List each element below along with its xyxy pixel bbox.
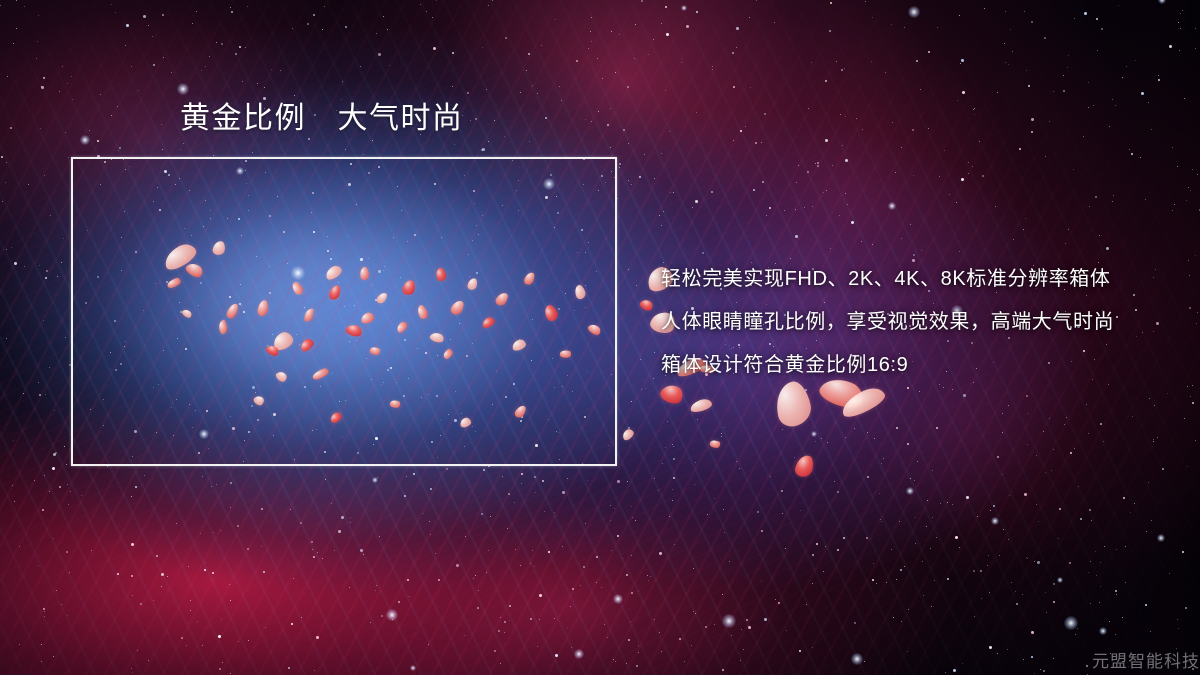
- showcase-frame: [71, 157, 617, 466]
- petal: [838, 384, 888, 421]
- body-line-2: 人体眼睛瞳孔比例，享受视觉效果，高端大气时尚: [661, 301, 1181, 344]
- body-line-1: 轻松完美实现FHD、2K、4K、8K标准分辨率箱体: [661, 258, 1181, 301]
- petal: [794, 453, 816, 478]
- petal: [621, 427, 636, 441]
- body-copy: 轻松完美实现FHD、2K、4K、8K标准分辨率箱体 人体眼睛瞳孔比例，享受视觉效…: [661, 258, 1181, 387]
- petal: [709, 438, 722, 450]
- petal: [689, 398, 713, 414]
- page-title: 黄金比例 大气时尚: [180, 100, 464, 138]
- watermark: 元盟智能科技: [1092, 647, 1200, 672]
- slide-canvas: 黄金比例 大气时尚 轻松完美实现FHD、2K、4K、8K标准分辨率箱体 人体眼睛…: [0, 0, 1200, 675]
- petal: [638, 297, 654, 313]
- body-line-3: 箱体设计符合黄金比例16:9: [661, 344, 1181, 387]
